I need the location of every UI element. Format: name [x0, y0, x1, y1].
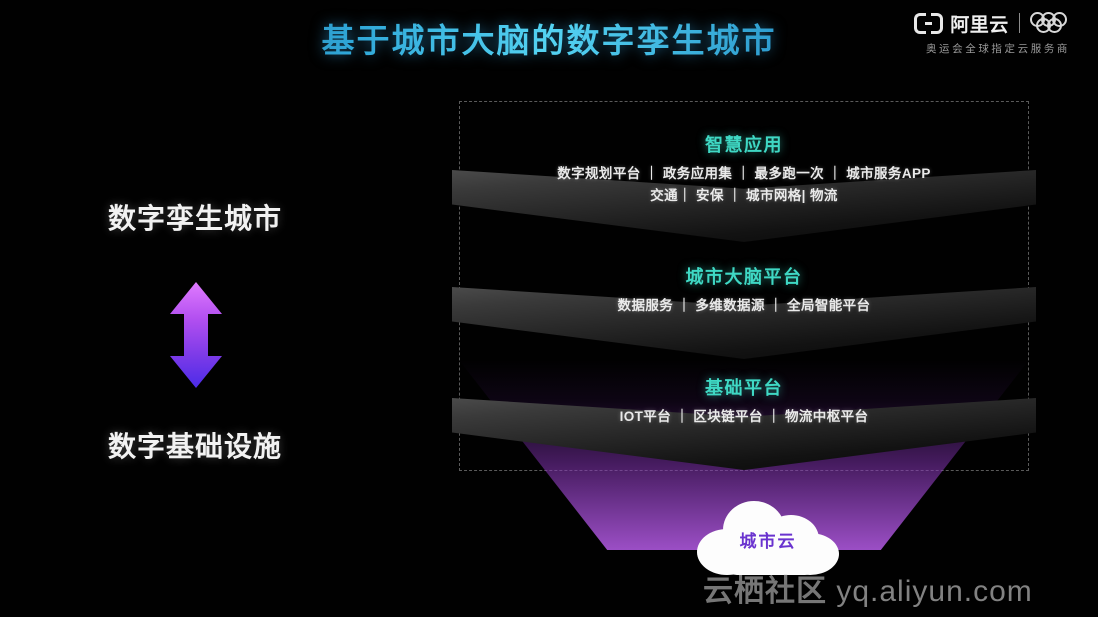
- layer-3-items: IOT平台 ｜ 区块链平台 ｜ 物流中枢平台: [459, 406, 1029, 428]
- brand-logo: 阿里云 奥运会全球指定云服务商: [912, 8, 1084, 56]
- watermark-url: yq.aliyun.com: [836, 575, 1032, 608]
- layer-3-items-line1: IOT平台 ｜ 区块链平台 ｜ 物流中枢平台: [459, 406, 1029, 428]
- logo-subtitle: 奥运会全球指定云服务商: [912, 41, 1084, 56]
- layer-2-title: 城市大脑平台: [459, 263, 1029, 289]
- layer-3-title: 基础平台: [459, 374, 1029, 400]
- layer-1-items-line1: 数字规划平台 ｜ 政务应用集 ｜ 最多跑一次 ｜ 城市服务APP: [459, 163, 1029, 185]
- olympic-rings-icon: [1030, 12, 1082, 34]
- alibaba-cloud-logo-icon: [914, 13, 943, 34]
- slide-canvas: 基于城市大脑的数字孪生城市 阿里云 奥运会全球指定云服务商 数字孪生城市: [0, 0, 1098, 617]
- label-digital-infrastructure: 数字基础设施: [0, 425, 390, 465]
- watermark: 云栖社区 yq.aliyun.com: [703, 566, 1033, 610]
- pyramid-layer-2: 城市大脑平台 数据服务 ｜ 多维数据源 ｜ 全局智能平台: [459, 263, 1029, 317]
- watermark-community: 云栖社区: [703, 575, 827, 608]
- brand-name: 阿里云: [950, 10, 1009, 37]
- layer-2-items: 数据服务 ｜ 多维数据源 ｜ 全局智能平台: [459, 295, 1029, 317]
- layer-1-title: 智慧应用: [459, 131, 1029, 157]
- layer-2-items-line1: 数据服务 ｜ 多维数据源 ｜ 全局智能平台: [459, 295, 1029, 317]
- logo-divider: [1019, 13, 1020, 33]
- label-digital-twin-city: 数字孪生城市: [0, 197, 390, 237]
- layer-1-items-line2: 交通｜ 安保 ｜ 城市网格| 物流: [459, 185, 1029, 207]
- layer-1-items: 数字规划平台 ｜ 政务应用集 ｜ 最多跑一次 ｜ 城市服务APP 交通｜ 安保 …: [459, 163, 1029, 207]
- pyramid-layer-3: 基础平台 IOT平台 ｜ 区块链平台 ｜ 物流中枢平台: [459, 374, 1029, 428]
- cloud-icon: 城市云: [697, 499, 839, 575]
- pyramid-layer-1: 智慧应用 数字规划平台 ｜ 政务应用集 ｜ 最多跑一次 ｜ 城市服务APP 交通…: [459, 131, 1029, 207]
- double-arrow-vertical-icon: [166, 280, 226, 390]
- logo-row: 阿里云: [912, 8, 1084, 38]
- cloud-label: 城市云: [697, 527, 839, 552]
